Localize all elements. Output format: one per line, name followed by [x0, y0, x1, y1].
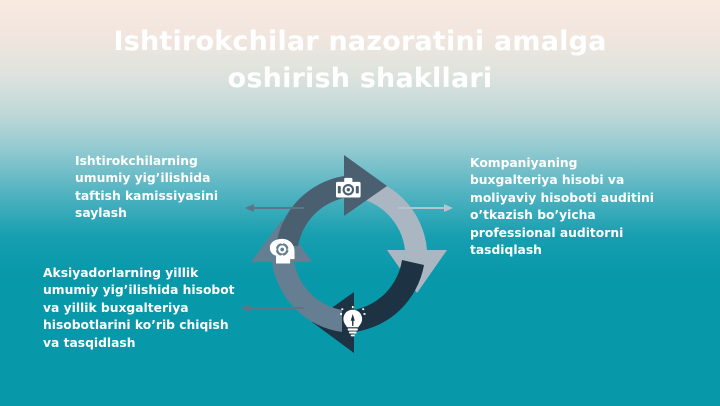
cycle-diagram [232, 150, 472, 380]
text-block-left-top: Ishtirokchilarning umumiy yig’ilishida t… [75, 153, 235, 223]
text-block-right-top: Kompaniyaning buxgalteriya hisobi va mol… [470, 155, 660, 260]
page-title: Ishtirokchilar nazoratini amalga oshiris… [60, 24, 660, 97]
connector-left-bottom [240, 300, 304, 319]
slide-canvas: Ishtirokchilar nazoratini amalga oshiris… [0, 0, 720, 406]
connector-left-top [244, 200, 304, 219]
text-block-left-bottom: Aksiyadorlarning yillik umumiy yig’ilish… [43, 265, 238, 352]
connector-right-top [398, 200, 454, 219]
